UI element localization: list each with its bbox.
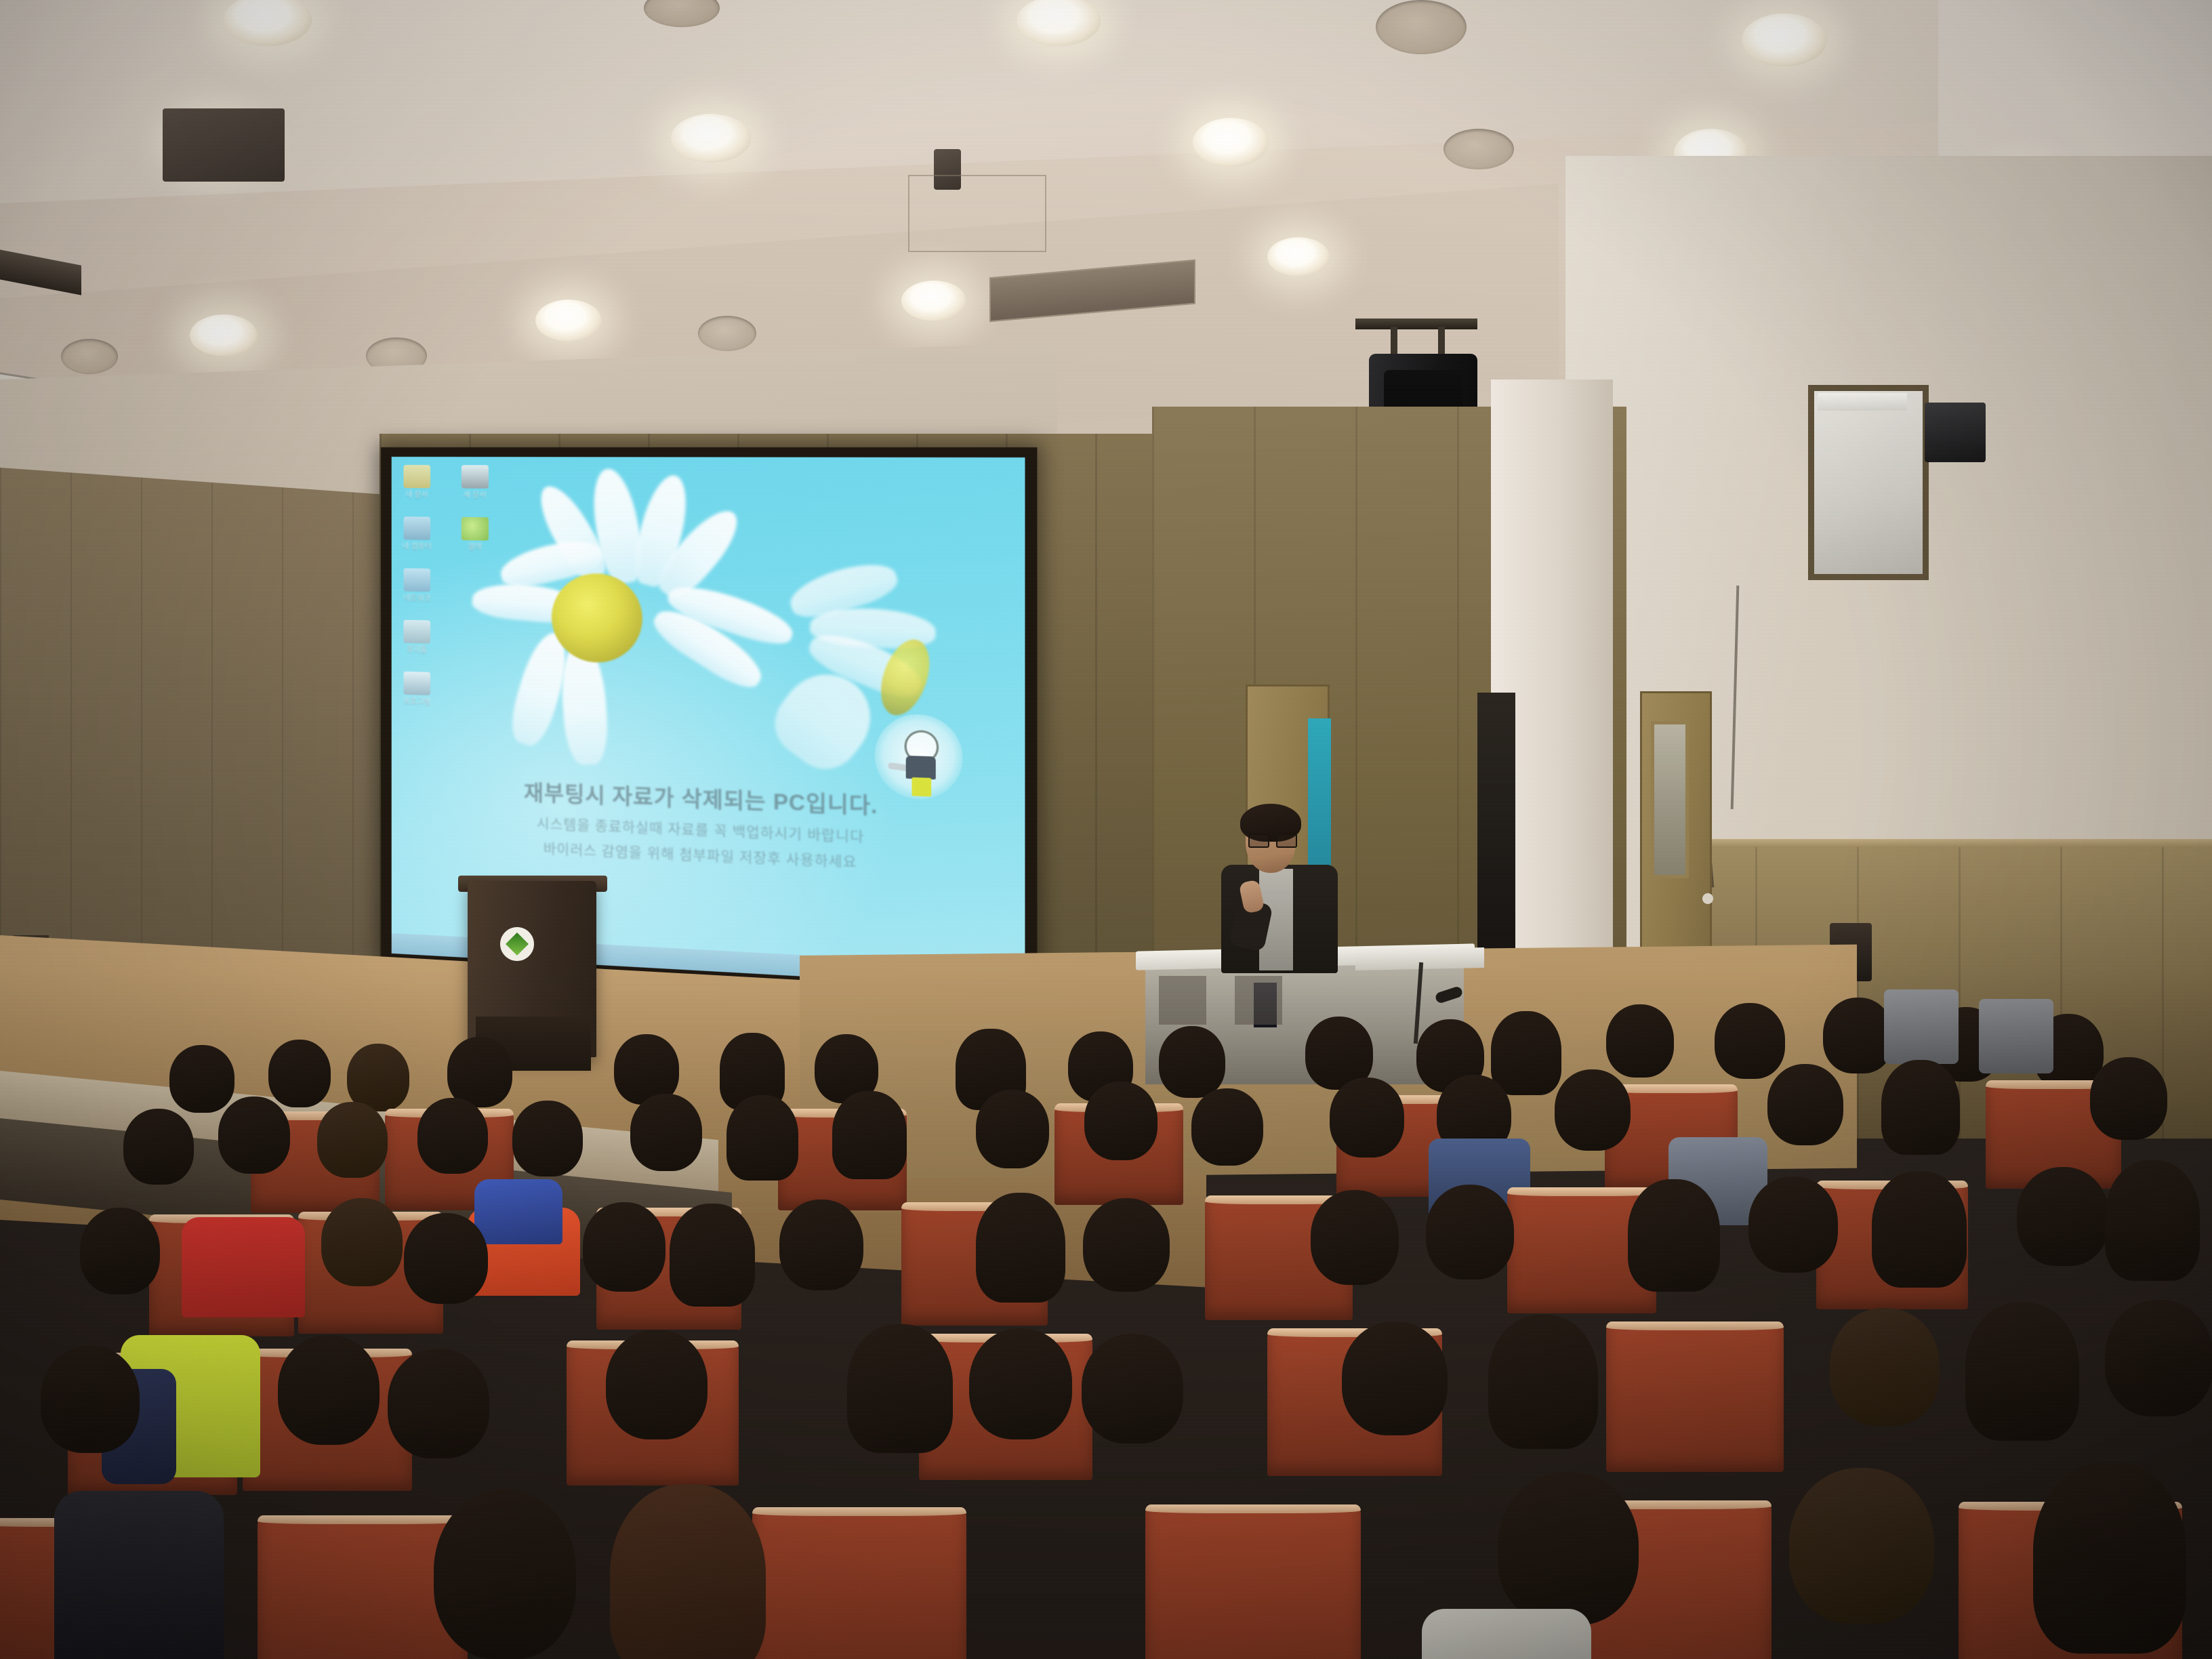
audience-head	[1715, 1003, 1785, 1079]
audience-head	[123, 1109, 194, 1185]
audience-head	[1330, 1078, 1404, 1158]
audience-head	[1789, 1468, 1934, 1624]
audience-head	[1830, 1308, 1940, 1426]
computer-glyph	[403, 516, 430, 539]
audience-head	[317, 1102, 388, 1178]
desktop-icon-row: 내 문서 새 문서	[398, 465, 499, 499]
ceiling-access-hole	[163, 108, 285, 182]
ceiling-downlight	[901, 281, 966, 321]
audience-head	[583, 1202, 665, 1292]
panel-header-strip	[1818, 393, 1907, 411]
glasses-lens-right	[1276, 834, 1297, 848]
desktop-icon-row: 내 컴퓨터 알약	[398, 516, 499, 552]
desktop-icon-label: 휴지통	[398, 646, 436, 655]
door-knob[interactable]	[1702, 893, 1713, 904]
audience-head	[606, 1330, 708, 1439]
ceiling-downlight-off	[698, 316, 756, 351]
audience-head	[726, 1095, 798, 1181]
ceiling-downlight	[1267, 237, 1330, 276]
audience-head	[2105, 1160, 2200, 1281]
generic-app-icon[interactable]: 프로그램	[398, 672, 436, 707]
audience-seating: NEW YORK	[0, 969, 2212, 1659]
audience-head	[1555, 1069, 1631, 1151]
audience-head	[434, 1490, 576, 1659]
audience-head	[1342, 1322, 1448, 1435]
audience-head	[630, 1094, 702, 1171]
seat[interactable]	[1145, 1504, 1361, 1659]
ceiling-downlight	[1742, 14, 1827, 66]
audience-head	[847, 1324, 953, 1453]
crest-diamond	[506, 933, 529, 956]
audience-head	[2033, 1462, 2186, 1654]
seat[interactable]	[1606, 1322, 1784, 1472]
grey-hoodie	[1422, 1609, 1591, 1659]
audience-head	[1191, 1088, 1263, 1166]
recycle-bin-icon[interactable]: 휴지통	[398, 620, 436, 655]
glasses-icon	[1248, 834, 1294, 845]
folder-icon[interactable]: 내 문서	[398, 465, 436, 499]
audience-head	[169, 1045, 234, 1113]
audience-head	[1426, 1185, 1514, 1279]
mascot-body	[906, 756, 936, 779]
desktop-icon-label: 알약	[456, 543, 494, 552]
audience-head	[1498, 1472, 1639, 1625]
blue-jacket	[474, 1179, 562, 1244]
audience-head	[1083, 1198, 1170, 1292]
apple-glyph	[462, 517, 489, 541]
audience-head	[512, 1101, 583, 1176]
audience-head	[41, 1346, 140, 1453]
audience-head	[278, 1335, 380, 1445]
seat[interactable]	[752, 1507, 966, 1659]
audience-head	[321, 1198, 403, 1286]
audience-head	[1082, 1334, 1183, 1443]
audience-head	[1606, 1004, 1674, 1078]
audience-head	[1311, 1190, 1399, 1285]
audience-head	[347, 1044, 409, 1111]
audience-head	[1491, 1011, 1561, 1095]
ceiling-downlight-off	[1376, 0, 1467, 54]
speaker-mount-bar	[1355, 319, 1477, 329]
desktop-icon-row: 네트워크	[398, 569, 499, 605]
daisy-center	[552, 573, 642, 663]
audience-head	[404, 1213, 488, 1304]
desktop-icon-row: 휴지통	[398, 620, 499, 657]
desktop-icon-label: 새 문서	[456, 491, 494, 500]
audience-head	[969, 1328, 1072, 1439]
audience-head	[1965, 1303, 2079, 1441]
audience-head	[779, 1200, 863, 1290]
audience-head	[1748, 1176, 1838, 1273]
network-glyph	[403, 569, 430, 592]
glasses-lens-left	[1248, 834, 1269, 848]
audience-head	[1872, 1171, 1967, 1288]
audience-head	[447, 1037, 512, 1107]
desktop-icon-label: 내 컴퓨터	[398, 542, 436, 551]
door-glass-pane	[1651, 721, 1689, 878]
doorway-shadow	[1477, 693, 1515, 977]
ceiling-downlight-off	[1443, 129, 1514, 169]
folder-glyph	[403, 465, 430, 488]
audience-head	[1084, 1082, 1158, 1160]
desktop-icon-label: 내 문서	[398, 491, 436, 499]
ceiling-downlight	[190, 314, 258, 356]
ceiling-downlight-off	[61, 339, 118, 374]
document-icon[interactable]: 새 문서	[456, 465, 494, 499]
audience-head	[1628, 1179, 1720, 1292]
audience-head	[2090, 1057, 2167, 1140]
folding-chair	[1884, 989, 1959, 1064]
presenter	[1206, 806, 1355, 969]
audience-head	[388, 1349, 489, 1458]
desktop-icon-label: 네트워크	[398, 594, 436, 603]
audience-head	[218, 1097, 290, 1174]
audience-head	[1488, 1315, 1598, 1449]
ceiling-downlight	[671, 114, 751, 163]
ceiling-access-panel	[908, 175, 1046, 252]
generic-app-glyph	[403, 672, 430, 695]
desktop-icon-grid[interactable]: 내 문서 새 문서 내 컴퓨터 알약	[398, 465, 499, 726]
wall-speaker-icon	[1925, 403, 1986, 462]
red-jacket	[182, 1217, 305, 1317]
desktop-icon-row: 프로그램	[398, 672, 499, 708]
audience-head	[1159, 1026, 1225, 1098]
audience-head	[976, 1090, 1049, 1168]
audience-coat	[54, 1491, 224, 1659]
computer-icon[interactable]: 내 컴퓨터	[398, 516, 436, 551]
audience-head	[832, 1091, 907, 1179]
document-glyph	[462, 465, 489, 488]
recycle-bin-glyph	[403, 620, 430, 644]
audience-head	[1767, 1064, 1843, 1145]
audience-head	[2105, 1300, 2212, 1416]
audience-head	[670, 1204, 755, 1307]
audience-head	[976, 1193, 1065, 1303]
audience-head	[610, 1484, 766, 1659]
wall-mounted-display-panel	[1808, 385, 1929, 580]
apple-icon[interactable]: 알약	[456, 517, 494, 552]
network-icon[interactable]: 네트워크	[398, 569, 436, 603]
ceiling-downlight	[535, 300, 602, 342]
audience-head	[2017, 1167, 2109, 1266]
folding-chair	[1979, 999, 2053, 1073]
desktop-icon-label: 프로그램	[398, 697, 436, 707]
podium-crest-emblem	[500, 927, 534, 961]
audience-head	[1881, 1060, 1960, 1155]
audience-head	[1823, 998, 1893, 1073]
audience-head	[417, 1098, 488, 1174]
audience-head	[80, 1208, 160, 1294]
ceiling-downlight	[1193, 118, 1269, 167]
audience-head	[268, 1040, 331, 1107]
auditorium-scene: 내 문서 새 문서 내 컴퓨터 알약	[0, 0, 2212, 1659]
